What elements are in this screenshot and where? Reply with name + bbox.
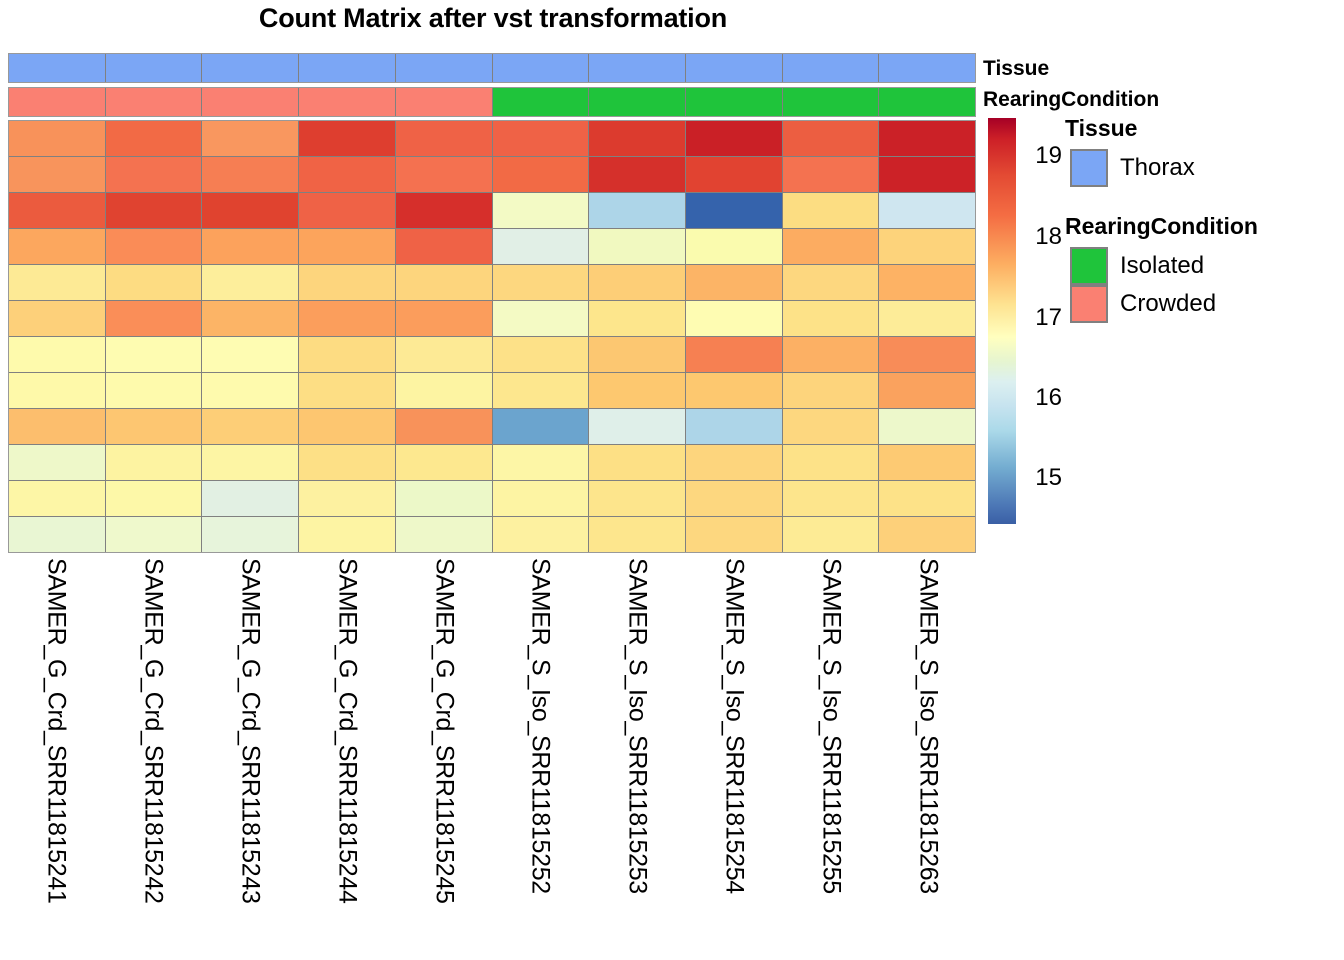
heatmap-cell: [589, 481, 686, 516]
column-label-slot: SAMER_G_Crd_SRR11815243: [202, 556, 299, 956]
column-label: SAMER_G_Crd_SRR11815244: [334, 558, 359, 904]
heatmap-cell: [686, 229, 783, 264]
column-label: SAMER_S_Iso_SRR11815254: [721, 558, 746, 894]
heatmap-cell: [589, 409, 686, 444]
heatmap-cell: [686, 337, 783, 372]
heatmap-cell: [589, 373, 686, 408]
legend-tissue-item[interactable]: Thorax: [1070, 149, 1195, 187]
column-label-slot: SAMER_G_Crd_SRR11815241: [8, 556, 105, 956]
heatmap-cell: [783, 193, 880, 228]
heatmap-cell: [202, 229, 299, 264]
column-label: SAMER_G_Crd_SRR11815243: [237, 558, 262, 904]
column-label-slot: SAMER_S_Iso_SRR11815255: [782, 556, 879, 956]
heatmap-cell: [202, 265, 299, 300]
heatmap-cell: [299, 157, 396, 192]
heatmap-cell: [202, 517, 299, 552]
tissue-annotation-cell: [589, 54, 686, 82]
heatmap-cell: [879, 229, 975, 264]
heatmap-cell: [299, 445, 396, 480]
heatmap-cell: [9, 229, 106, 264]
heatmap-cell: [686, 481, 783, 516]
legend-tissue-swatch: [1070, 149, 1108, 187]
heatmap-cell: [783, 229, 880, 264]
annotation-bar-tissue-label: Tissue: [983, 58, 1049, 80]
heatmap-cell: [493, 301, 590, 336]
annotation-bar-rearing-condition: [8, 87, 976, 117]
heatmap-row: [9, 193, 975, 229]
heatmap-cell: [493, 193, 590, 228]
heatmap-cell: [396, 121, 493, 156]
heatmap-cell: [299, 517, 396, 552]
rearing-condition-annotation-cell: [686, 88, 783, 116]
heatmap-cell: [783, 265, 880, 300]
heatmap-cell: [686, 301, 783, 336]
heatmap-cell: [879, 445, 975, 480]
heatmap-cell: [202, 301, 299, 336]
colorbar-tick-label: 15: [1022, 466, 1062, 490]
column-label-slot: SAMER_S_Iso_SRR11815263: [879, 556, 976, 956]
heatmap-cell: [493, 517, 590, 552]
heatmap-cell: [106, 121, 203, 156]
column-label-slot: SAMER_S_Iso_SRR11815254: [686, 556, 783, 956]
heatmap-cell: [106, 481, 203, 516]
heatmap-cell: [202, 373, 299, 408]
heatmap-cell: [879, 517, 975, 552]
heatmap-cell: [299, 265, 396, 300]
heatmap-cell: [202, 193, 299, 228]
heatmap-cell: [202, 121, 299, 156]
heatmap-cell: [686, 409, 783, 444]
rearing-condition-annotation-cell: [879, 88, 975, 116]
heatmap-row: [9, 445, 975, 481]
legend-rearing-condition-item[interactable]: Isolated: [1070, 247, 1204, 285]
heatmap-cell: [106, 229, 203, 264]
heatmap-cell: [783, 517, 880, 552]
heatmap-cell: [9, 265, 106, 300]
heatmap-cell: [686, 373, 783, 408]
annotation-bar-rearing-condition-label: RearingCondition: [983, 89, 1159, 111]
heatmap-cell: [589, 157, 686, 192]
heatmap-cell: [686, 157, 783, 192]
heatmap-cell: [202, 157, 299, 192]
heatmap-cell: [783, 481, 880, 516]
heatmap-row: [9, 409, 975, 445]
heatmap-row: [9, 301, 975, 337]
column-label: SAMER_G_Crd_SRR11815241: [44, 558, 69, 904]
heatmap-row: [9, 373, 975, 409]
heatmap-cell: [686, 121, 783, 156]
heatmap-cell: [299, 481, 396, 516]
column-label: SAMER_S_Iso_SRR11815263: [915, 558, 940, 894]
heatmap-cell: [879, 121, 975, 156]
heatmap-row: [9, 481, 975, 517]
legend-rearing-condition-label: Isolated: [1120, 254, 1204, 278]
heatmap-cell: [9, 337, 106, 372]
tissue-annotation-cell: [783, 54, 880, 82]
heatmap-cell: [589, 193, 686, 228]
heatmap-cell: [493, 481, 590, 516]
legend-rearing-condition-item[interactable]: Crowded: [1070, 285, 1216, 323]
column-label: SAMER_S_Iso_SRR11815255: [818, 558, 843, 894]
heatmap-cell: [396, 517, 493, 552]
colorbar-tick-label: 19: [1022, 144, 1062, 168]
tissue-annotation-cell: [686, 54, 783, 82]
heatmap-cell: [106, 301, 203, 336]
heatmap-cell: [589, 229, 686, 264]
heatmap-cell: [783, 337, 880, 372]
heatmap-cell: [299, 409, 396, 444]
heatmap-cell: [493, 157, 590, 192]
heatmap-cell: [9, 193, 106, 228]
heatmap-cell: [106, 517, 203, 552]
legend-rearing-condition-swatch: [1070, 285, 1108, 323]
heatmap-cell: [9, 481, 106, 516]
heatmap-cell: [396, 445, 493, 480]
heatmap-cell: [396, 337, 493, 372]
column-label: SAMER_G_Crd_SRR11815242: [141, 558, 166, 904]
heatmap-cell: [783, 373, 880, 408]
colorbar-tick-label: 17: [1022, 306, 1062, 330]
heatmap-cell: [106, 193, 203, 228]
legend-title-rearing-condition: RearingCondition: [1065, 214, 1258, 238]
column-label: SAMER_S_Iso_SRR11815253: [625, 558, 650, 894]
heatmap-cell: [396, 373, 493, 408]
heatmap-cell: [396, 301, 493, 336]
column-label-slot: SAMER_G_Crd_SRR11815245: [395, 556, 492, 956]
colorbar-tick-label: 16: [1022, 386, 1062, 410]
colorbar-tick-label: 18: [1022, 225, 1062, 249]
heatmap-cell: [9, 157, 106, 192]
heatmap-cell: [589, 121, 686, 156]
legend-title-tissue: Tissue: [1065, 116, 1137, 140]
heatmap-row: [9, 157, 975, 193]
heatmap-row: [9, 229, 975, 265]
heatmap-cell: [493, 337, 590, 372]
heatmap-cell: [299, 337, 396, 372]
heatmap-cell: [396, 409, 493, 444]
heatmap-cell: [493, 409, 590, 444]
heatmap-cell: [396, 481, 493, 516]
legend-rearing-condition-swatch: [1070, 247, 1108, 285]
heatmap-cell: [9, 121, 106, 156]
heatmap-cell: [106, 157, 203, 192]
heatmap-cell: [202, 337, 299, 372]
colorbar-gradient: [988, 118, 1016, 524]
heatmap-cell: [202, 409, 299, 444]
heatmap-cell: [879, 157, 975, 192]
column-label-slot: SAMER_G_Crd_SRR11815242: [105, 556, 202, 956]
heatmap-cell: [106, 373, 203, 408]
heatmap-cell: [783, 301, 880, 336]
heatmap-cell: [9, 517, 106, 552]
heatmap-cell: [783, 409, 880, 444]
heatmap-cell: [589, 445, 686, 480]
heatmap-cell: [299, 373, 396, 408]
heatmap-cell: [493, 373, 590, 408]
heatmap-cell: [686, 445, 783, 480]
heatmap-grid: [8, 120, 976, 553]
rearing-condition-annotation-cell: [202, 88, 299, 116]
heatmap-cell: [9, 373, 106, 408]
heatmap-cell: [879, 193, 975, 228]
heatmap-cell: [493, 229, 590, 264]
heatmap-cell: [879, 481, 975, 516]
heatmap-cell: [396, 193, 493, 228]
heatmap-cell: [686, 193, 783, 228]
tissue-annotation-cell: [396, 54, 493, 82]
rearing-condition-annotation-cell: [783, 88, 880, 116]
tissue-annotation-cell: [9, 54, 106, 82]
column-label-slot: SAMER_G_Crd_SRR11815244: [298, 556, 395, 956]
heatmap-cell: [106, 445, 203, 480]
rearing-condition-annotation-cell: [9, 88, 106, 116]
rearing-condition-annotation-cell: [493, 88, 590, 116]
heatmap-cell: [589, 265, 686, 300]
rearing-condition-annotation-cell: [106, 88, 203, 116]
heatmap-cell: [879, 337, 975, 372]
heatmap-cell: [9, 409, 106, 444]
rearing-condition-annotation-cell: [299, 88, 396, 116]
page-title: Count Matrix after vst transformation: [8, 2, 978, 34]
heatmap-cell: [299, 229, 396, 264]
heatmap-cell: [106, 265, 203, 300]
heatmap-cell: [879, 409, 975, 444]
heatmap-cell: [396, 157, 493, 192]
heatmap-cell: [106, 409, 203, 444]
tissue-annotation-cell: [202, 54, 299, 82]
heatmap-cell: [493, 121, 590, 156]
column-label: SAMER_G_Crd_SRR11815245: [431, 558, 456, 904]
tissue-annotation-cell: [106, 54, 203, 82]
heatmap-cell: [299, 121, 396, 156]
column-label: SAMER_S_Iso_SRR11815252: [528, 558, 553, 894]
heatmap-cell: [686, 517, 783, 552]
annotation-bar-tissue: [8, 53, 976, 83]
heatmap-row: [9, 265, 975, 301]
heatmap-cell: [589, 337, 686, 372]
heatmap-cell: [202, 445, 299, 480]
heatmap-cell: [686, 265, 783, 300]
heatmap-cell: [783, 157, 880, 192]
heatmap-cell: [202, 481, 299, 516]
heatmap-cell: [396, 265, 493, 300]
heatmap-cell: [783, 445, 880, 480]
tissue-annotation-cell: [299, 54, 396, 82]
heatmap-figure: Count Matrix after vst transformation Ti…: [0, 0, 1344, 960]
heatmap-cell: [299, 193, 396, 228]
heatmap-row: [9, 337, 975, 373]
heatmap-cell: [493, 445, 590, 480]
legend-rearing-condition-label: Crowded: [1120, 292, 1216, 316]
heatmap-cell: [9, 301, 106, 336]
heatmap-cell: [879, 373, 975, 408]
rearing-condition-annotation-cell: [396, 88, 493, 116]
legend-tissue-label: Thorax: [1120, 156, 1195, 180]
rearing-condition-annotation-cell: [589, 88, 686, 116]
column-label-axis: SAMER_G_Crd_SRR11815241SAMER_G_Crd_SRR11…: [8, 556, 976, 956]
heatmap-cell: [299, 301, 396, 336]
heatmap-cell: [9, 445, 106, 480]
heatmap-cell: [396, 229, 493, 264]
tissue-annotation-cell: [879, 54, 975, 82]
heatmap-cell: [589, 301, 686, 336]
heatmap-row: [9, 517, 975, 552]
heatmap-cell: [589, 517, 686, 552]
heatmap-cell: [783, 121, 880, 156]
column-label-slot: SAMER_S_Iso_SRR11815252: [492, 556, 589, 956]
heatmap-cell: [879, 301, 975, 336]
heatmap-cell: [879, 265, 975, 300]
heatmap-row: [9, 121, 975, 157]
heatmap-cell: [106, 337, 203, 372]
heatmap-cell: [493, 265, 590, 300]
column-label-slot: SAMER_S_Iso_SRR11815253: [589, 556, 686, 956]
tissue-annotation-cell: [493, 54, 590, 82]
